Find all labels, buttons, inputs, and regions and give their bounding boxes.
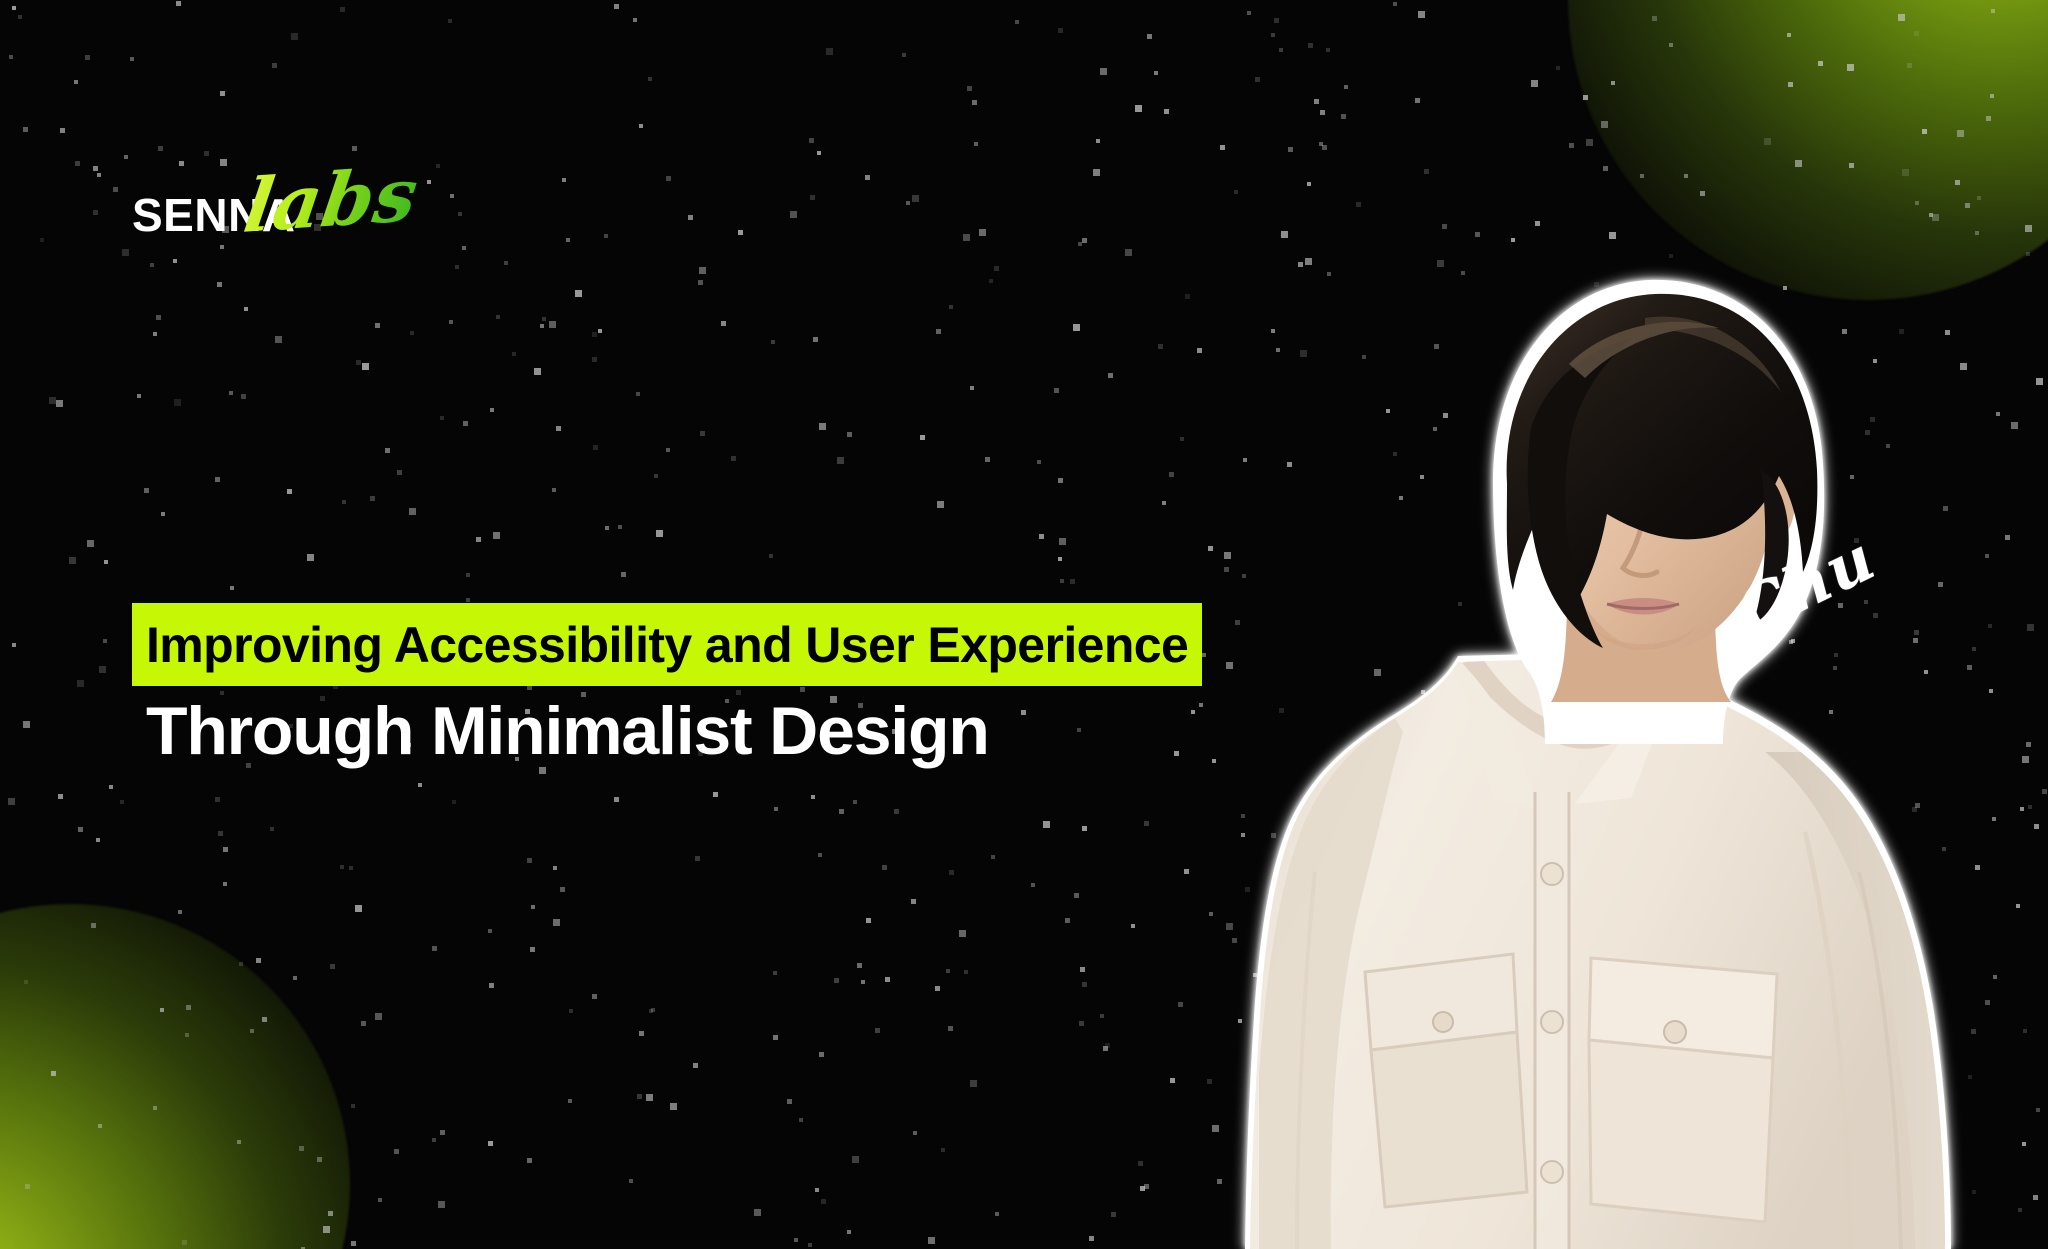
headline-line-1-highlighted: Improving Accessibility and User Experie… <box>132 603 1202 686</box>
author-portrait <box>1245 232 1965 1249</box>
headline-line-2: Through Minimalist Design <box>132 696 1252 767</box>
page-title: Improving Accessibility and User Experie… <box>132 603 1252 767</box>
senna-labs-logo[interactable]: SENNA labs <box>132 178 412 248</box>
logo-script-labs: labs <box>240 158 422 244</box>
blog-cover-canvas: SENNA labs Improving Accessibility and U… <box>0 0 2048 1249</box>
